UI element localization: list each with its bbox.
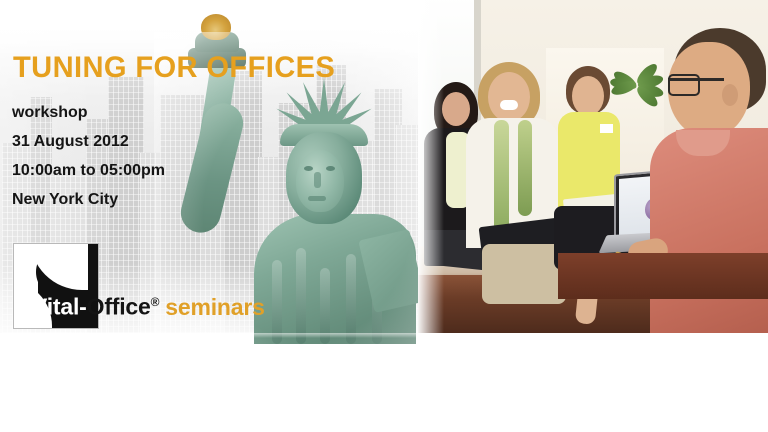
participant-head bbox=[488, 72, 530, 122]
registered-mark: ® bbox=[151, 295, 160, 309]
band-highlight bbox=[0, 333, 768, 338]
event-details: workshop 31 August 2012 10:00am to 05:00… bbox=[12, 98, 165, 214]
seminar-banner: TUNING FOR OFFICES workshop 31 August 20… bbox=[0, 0, 768, 432]
participant-head bbox=[572, 76, 604, 116]
participant-mouth bbox=[500, 100, 518, 110]
gold-divider-band bbox=[0, 333, 768, 357]
brand-wordmark: Vital-Office®seminars bbox=[32, 291, 265, 319]
statue-torch-flame bbox=[201, 14, 231, 40]
table bbox=[558, 253, 768, 299]
statue-nose bbox=[314, 172, 321, 188]
statue-eye bbox=[304, 166, 313, 171]
participant-badge bbox=[600, 124, 613, 133]
presenter-ear bbox=[722, 84, 738, 106]
potted-plant bbox=[614, 58, 666, 104]
event-type: workshop bbox=[12, 98, 165, 127]
participant-scarf bbox=[494, 120, 509, 238]
statue-eye bbox=[326, 166, 335, 171]
event-place: New York City bbox=[12, 185, 165, 214]
participant-head bbox=[442, 92, 470, 126]
photo-left-soft-edge bbox=[418, 0, 444, 333]
participant-scarf bbox=[518, 120, 532, 216]
event-time: 10:00am to 05:00pm bbox=[12, 156, 165, 185]
banner-title: TUNING FOR OFFICES bbox=[13, 53, 335, 83]
statue-mouth bbox=[308, 196, 326, 201]
wordmark-office: Office bbox=[87, 294, 151, 320]
robe-fold bbox=[346, 254, 356, 344]
bottom-white-area bbox=[0, 357, 768, 432]
wordmark-seminars: seminars bbox=[165, 294, 264, 320]
wordmark-vital: Vital- bbox=[32, 294, 87, 320]
presenter-glasses-lens bbox=[668, 74, 700, 96]
robe-fold bbox=[296, 248, 306, 344]
statue-forearm bbox=[177, 99, 248, 237]
robe-fold bbox=[272, 260, 282, 344]
presenter-shirt bbox=[650, 128, 768, 333]
seminar-room-photo bbox=[418, 0, 768, 333]
event-date: 31 August 2012 bbox=[12, 127, 165, 156]
